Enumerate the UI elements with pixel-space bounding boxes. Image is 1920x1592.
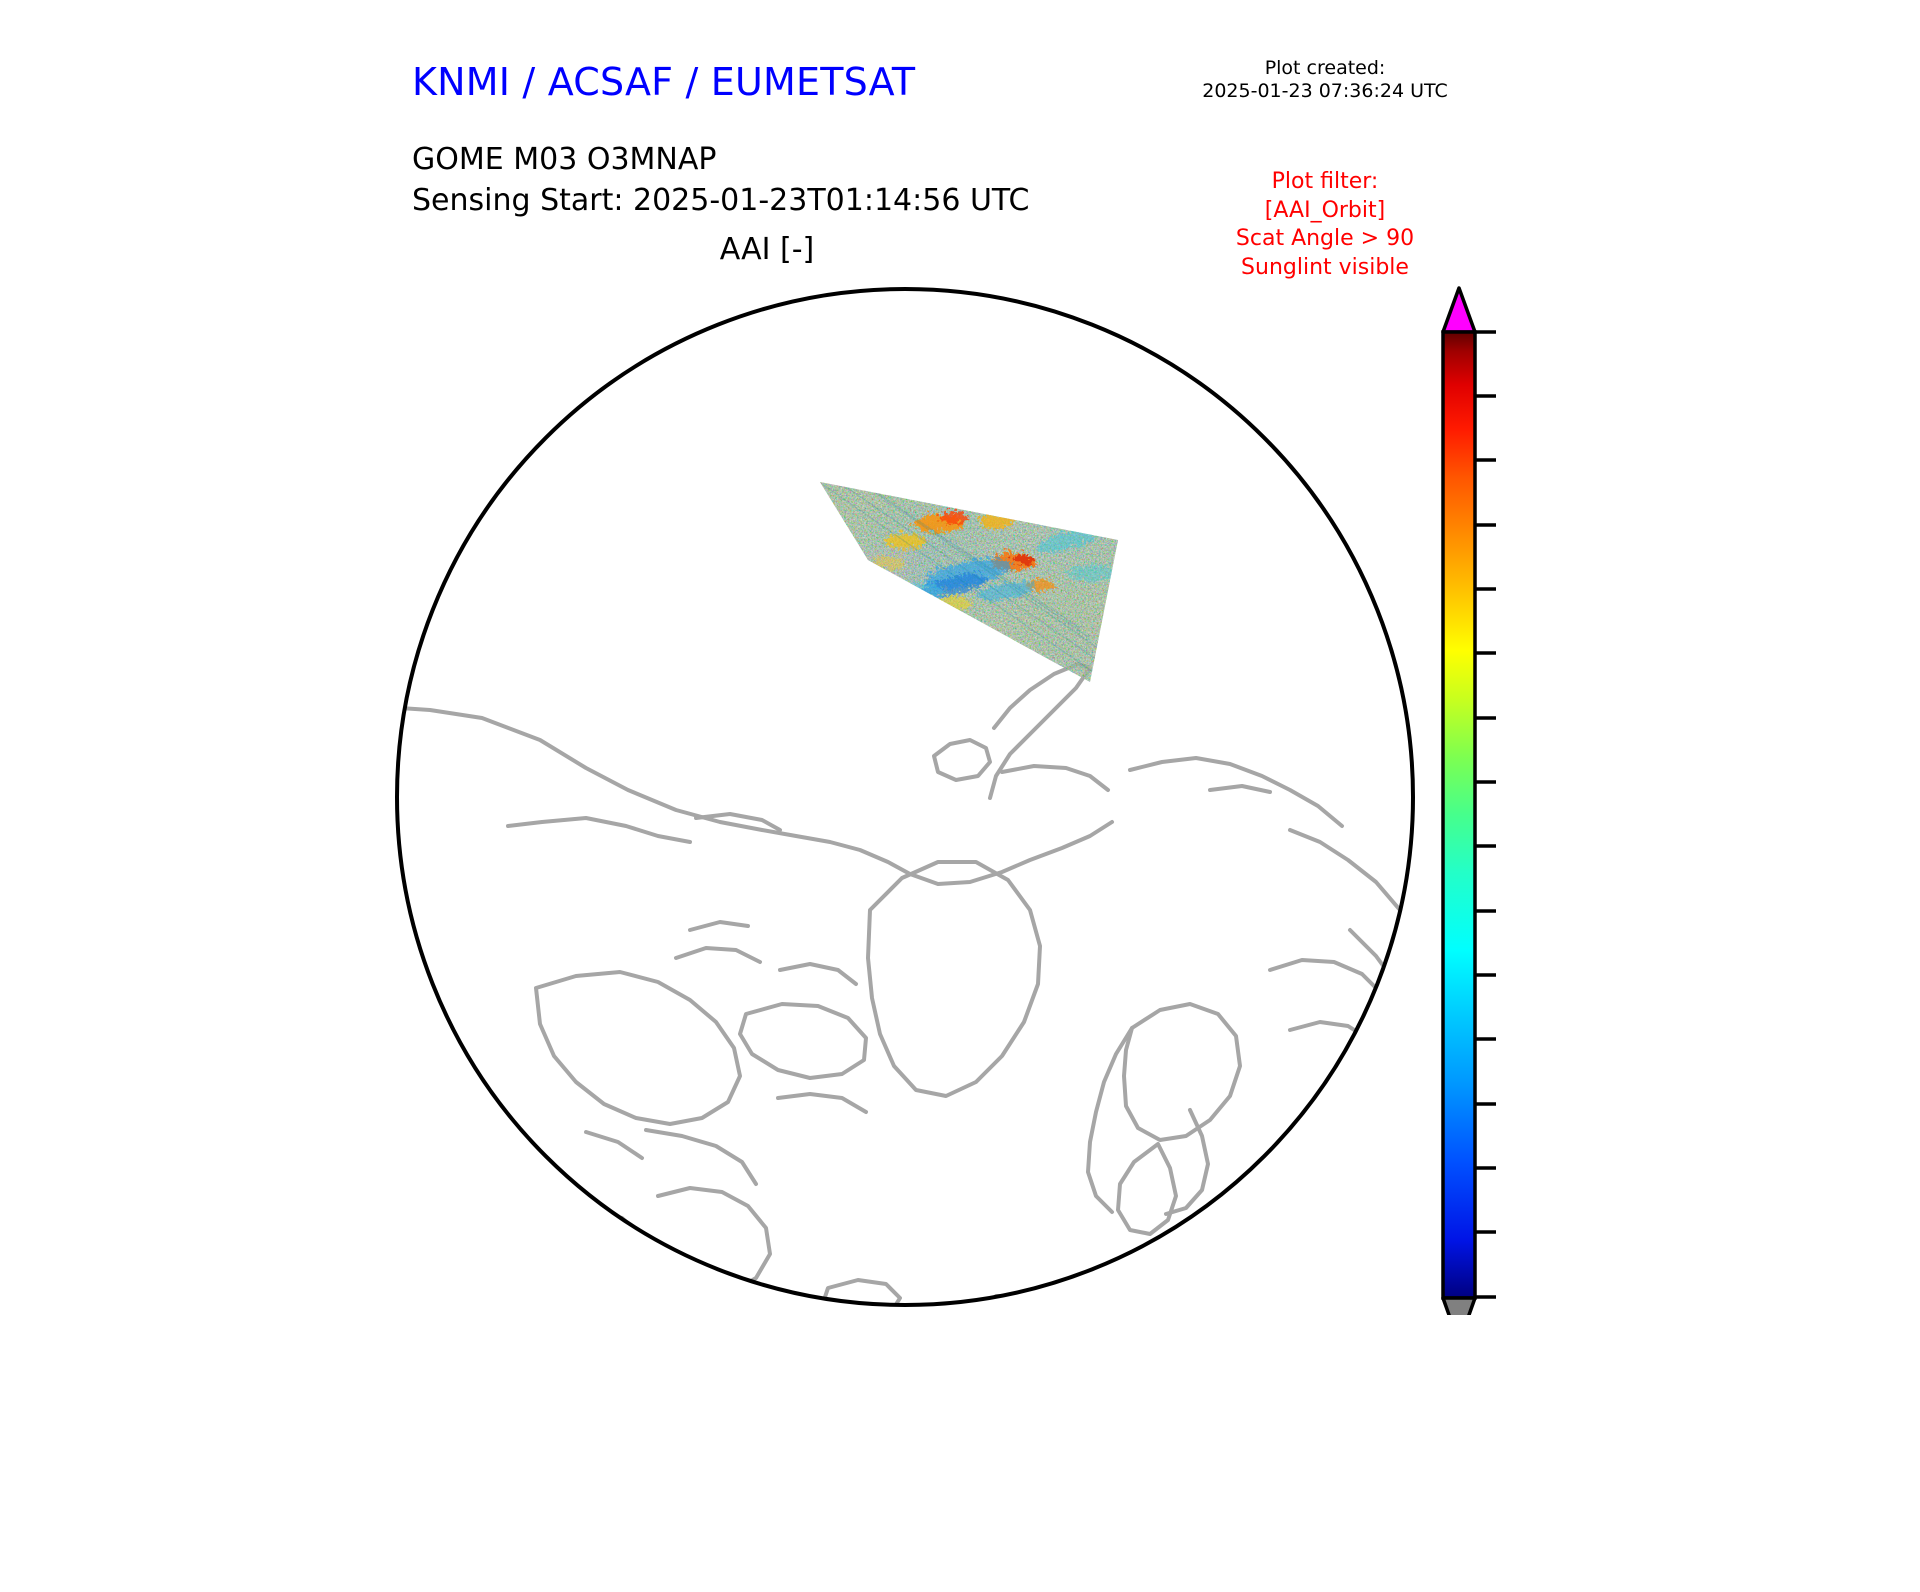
map-plot xyxy=(390,270,1440,1330)
plot-canvas: KNMI / ACSAF / EUMETSAT Plot created: 20… xyxy=(0,0,1920,1440)
plot-created-block: Plot created: 2025-01-23 07:36:24 UTC xyxy=(1160,57,1490,103)
plot-filter-scat-angle: Scat Angle > 90 xyxy=(1160,225,1490,254)
plot-created-label: Plot created: xyxy=(1160,57,1490,80)
colorbar-over-flag xyxy=(1443,288,1475,332)
globe-disc xyxy=(397,289,1413,1305)
colorbar-svg xyxy=(1430,275,1760,1315)
quantity-label: AAI [-] xyxy=(412,232,1122,267)
institutes-title: KNMI / ACSAF / EUMETSAT xyxy=(412,60,915,104)
plot-filter-label: Plot filter: xyxy=(1160,168,1490,197)
colorbar-gradient xyxy=(1443,332,1475,1298)
product-name: GOME M03 O3MNAP xyxy=(412,140,1029,181)
colorbar-under-flag xyxy=(1443,1298,1475,1315)
plot-filter-name: [AAI_Orbit] xyxy=(1160,197,1490,226)
map-svg xyxy=(390,270,1440,1330)
sensing-start: Sensing Start: 2025-01-23T01:14:56 UTC xyxy=(412,181,1029,222)
product-title-block: GOME M03 O3MNAP Sensing Start: 2025-01-2… xyxy=(412,140,1029,222)
colorbar: 4.03.53.02.52.01.51.00.50.0−0.5−1.0−1.5−… xyxy=(1430,275,1760,1315)
plot-filter-block: Plot filter: [AAI_Orbit] Scat Angle > 90… xyxy=(1160,168,1490,282)
colorbar-ticks xyxy=(1475,332,1496,1297)
plot-created-time: 2025-01-23 07:36:24 UTC xyxy=(1160,80,1490,103)
